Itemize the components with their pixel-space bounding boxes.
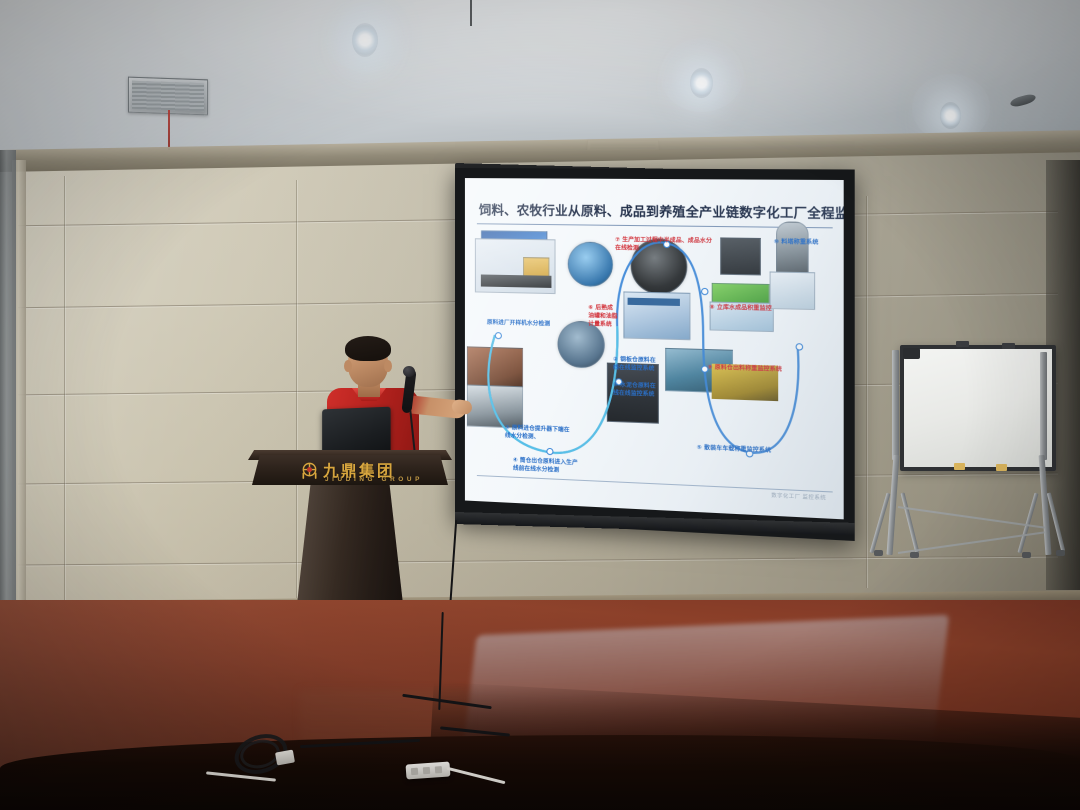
whiteboard-upright-right (1040, 352, 1047, 460)
wall-panel-seam (296, 180, 297, 598)
microphone-head-icon (403, 366, 415, 377)
slide-label-7: ⑦ 生产加工过程中半成品、成品水分 在线检测 (615, 236, 756, 254)
whiteboard-clip (956, 341, 969, 347)
podium-logo-en: JIUDING GROUP (325, 476, 423, 483)
power-strip (406, 761, 451, 779)
wall-panel-seam (866, 196, 867, 588)
presentation-slide: 饲料、农牧行业从原料、成品到养殖全产业链数字化工厂全程监控系统 (465, 178, 844, 519)
speaker-hair (345, 336, 391, 361)
flow-node (796, 343, 804, 351)
whiteboard-eraser (903, 348, 920, 359)
whiteboard-clip (1002, 343, 1015, 349)
slide-label-1b: ① 水泥仓原料在 线在线监控系统 (613, 381, 686, 400)
ceiling-cable (470, 0, 472, 26)
ceiling-spotlight-icon (352, 23, 378, 57)
whiteboard-foot (1056, 550, 1065, 556)
ceiling-spotlight-icon (690, 68, 713, 98)
slide-label-2: ② 钢板仓原料在 线在线监控系统 (613, 356, 686, 375)
whiteboard-foot (874, 550, 883, 556)
slide-title: 饲料、农牧行业从原料、成品到养殖全产业链数字化工厂全程监控系统 (479, 200, 831, 222)
whiteboard-foot (1022, 552, 1031, 558)
ceiling-spotlight-icon (940, 102, 961, 129)
speaker-ear (344, 360, 352, 372)
whiteboard-marker-tray-clip (954, 463, 965, 470)
door-jamb (0, 150, 16, 620)
whiteboard (900, 345, 1056, 471)
whiteboard-foot (910, 552, 919, 558)
slide-label-10: ⑩ 料塔称重系统 (774, 238, 842, 247)
screen-surface: 饲料、农牧行业从原料、成品到养殖全产业链数字化工厂全程监控系统 (465, 178, 844, 519)
flow-node (701, 288, 708, 295)
slide-label-6: ⑥ 后熟成 油罐和油脂 计量系统 (588, 304, 644, 330)
jiuding-logo-icon (300, 461, 319, 480)
speaker-ear (384, 360, 392, 372)
stage-edge (0, 735, 1080, 810)
flow-node (546, 448, 553, 455)
slide-footer: 数字化工厂 监控系统 (771, 492, 826, 502)
wall-panel-seam (64, 176, 65, 600)
whiteboard-marker-tray-clip (996, 464, 1007, 471)
flow-node (495, 332, 502, 339)
photo-scene: 饲料、农牧行业从原料、成品到养殖全产业链数字化工厂全程监控系统 (0, 0, 1080, 810)
projection-screen: 饲料、农牧行业从原料、成品到养殖全产业链数字化工厂全程监控系统 (455, 168, 855, 541)
whiteboard-upright-left (892, 350, 899, 460)
